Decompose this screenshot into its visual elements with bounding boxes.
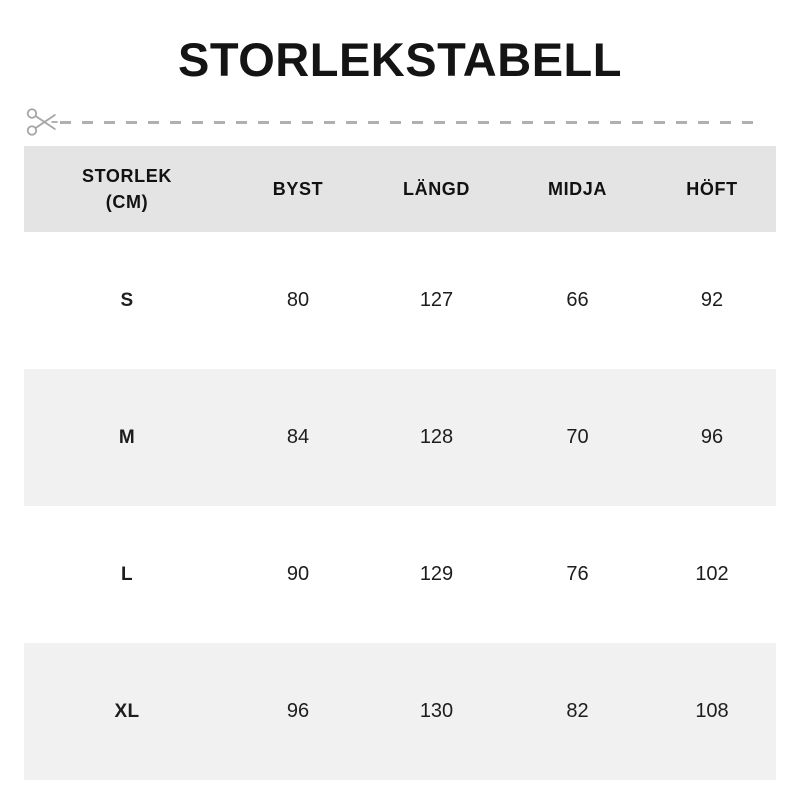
page-title: STORLEKSTABELL [0,34,800,87]
cell-size: S [24,232,230,369]
table-row: XL 96 130 82 108 [24,643,776,780]
cell-length: 128 [366,369,507,506]
table-row: S 80 127 66 92 [24,232,776,369]
cell-hip: 92 [648,232,776,369]
cell-size: M [24,369,230,506]
column-header-size-line1: STORLEK [82,166,172,186]
table-header: STORLEK (CM) BYST LÄNGD MIDJA HÖFT [24,146,776,232]
cell-bust: 90 [230,506,366,643]
cell-length: 127 [366,232,507,369]
table-row: M 84 128 70 96 [24,369,776,506]
cell-waist: 70 [507,369,648,506]
cell-bust: 96 [230,643,366,780]
cell-waist: 82 [507,643,648,780]
table-body: S 80 127 66 92 M 84 128 70 96 L 90 129 7… [24,232,776,780]
cut-line-dashes [60,121,764,124]
cell-bust: 84 [230,369,366,506]
cell-length: 129 [366,506,507,643]
column-header-hip: HÖFT [648,146,776,232]
scissors-icon [24,105,58,139]
column-header-length: LÄNGD [366,146,507,232]
cell-size: L [24,506,230,643]
table-header-row: STORLEK (CM) BYST LÄNGD MIDJA HÖFT [24,146,776,232]
cell-waist: 66 [507,232,648,369]
cell-hip: 96 [648,369,776,506]
cell-bust: 80 [230,232,366,369]
size-chart-page: STORLEKSTABELL STORLEK (CM) BYST LÄNGD M… [0,0,800,800]
cell-hip: 108 [648,643,776,780]
column-header-size: STORLEK (CM) [24,146,230,232]
column-header-size-line2: (CM) [24,189,230,215]
column-header-waist: MIDJA [507,146,648,232]
cell-length: 130 [366,643,507,780]
cut-line [24,104,776,140]
size-table: STORLEK (CM) BYST LÄNGD MIDJA HÖFT S 80 … [24,146,776,780]
cell-size: XL [24,643,230,780]
table-row: L 90 129 76 102 [24,506,776,643]
column-header-bust: BYST [230,146,366,232]
cell-waist: 76 [507,506,648,643]
cell-hip: 102 [648,506,776,643]
